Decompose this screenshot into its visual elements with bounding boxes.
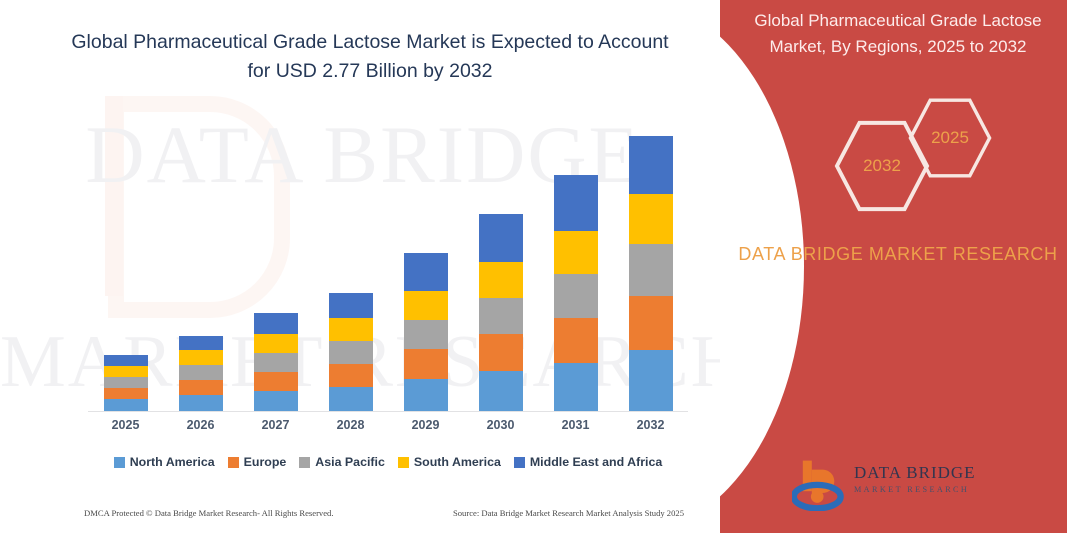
bar-segment <box>329 318 373 341</box>
bar-segment <box>554 175 598 231</box>
stacked-bar <box>104 355 148 411</box>
legend-item[interactable]: South America <box>398 455 501 469</box>
bar-segment <box>629 194 673 244</box>
infographic-canvas: DATA BRIDGE MARKET RESEARCH Global Pharm… <box>0 0 1067 533</box>
footer-source: Source: Data Bridge Market Research Mark… <box>453 508 684 518</box>
bar-segment <box>254 372 298 391</box>
x-axis-tick-label: 2030 <box>463 418 538 432</box>
legend-swatch-icon <box>398 457 409 468</box>
footer-copyright: DMCA Protected © Data Bridge Market Rese… <box>84 508 334 518</box>
chart-plot-area <box>88 120 688 412</box>
stacked-bar <box>479 214 523 411</box>
bar-segment <box>404 379 448 411</box>
bar-segment <box>254 353 298 372</box>
stacked-bar <box>329 293 373 411</box>
x-axis-tick-label: 2025 <box>88 418 163 432</box>
bar-segment <box>479 334 523 371</box>
legend-swatch-icon <box>114 457 125 468</box>
bar-segment <box>179 365 223 380</box>
x-axis-tick-label: 2026 <box>163 418 238 432</box>
bar-segment <box>554 363 598 411</box>
bar-segment <box>179 350 223 365</box>
legend-item[interactable]: Europe <box>228 455 287 469</box>
logo-line-1: DATA BRIDGE <box>854 463 976 483</box>
bar-segment <box>404 320 448 349</box>
legend-swatch-icon <box>514 457 525 468</box>
x-axis-tick-label: 2028 <box>313 418 388 432</box>
brand-logo: DATA BRIDGE MARKET RESEARCH <box>738 455 1058 513</box>
stacked-bar <box>179 336 223 411</box>
stacked-bars <box>88 120 688 411</box>
bar-segment <box>404 349 448 379</box>
bar-segment <box>479 214 523 262</box>
legend-label: Asia Pacific <box>315 455 385 469</box>
panel-title: Global Pharmaceutical Grade Lactose Mark… <box>738 8 1058 60</box>
bar-segment <box>329 341 373 364</box>
bar-segment <box>479 298 523 334</box>
bar-segment <box>554 318 598 363</box>
x-axis-tick-label: 2029 <box>388 418 463 432</box>
legend-item[interactable]: North America <box>114 455 215 469</box>
bar-segment <box>179 380 223 395</box>
legend-swatch-icon <box>228 457 239 468</box>
stacked-bar <box>629 136 673 411</box>
bar-segment <box>629 296 673 350</box>
stacked-bar <box>404 253 448 411</box>
bar-segment <box>479 371 523 411</box>
right-panel: Global Pharmaceutical Grade Lactose Mark… <box>720 0 1067 533</box>
chart-title: Global Pharmaceutical Grade Lactose Mark… <box>70 28 670 86</box>
bar-column <box>163 120 238 411</box>
x-axis-line <box>88 411 688 412</box>
bar-segment <box>404 253 448 291</box>
bar-segment <box>104 377 148 388</box>
chart-legend: North AmericaEuropeAsia PacificSouth Ame… <box>88 455 688 469</box>
panel-brand-text: DATA BRIDGE MARKET RESEARCH <box>738 240 1058 269</box>
bar-segment <box>329 364 373 387</box>
bar-column <box>313 120 388 411</box>
bar-segment <box>554 274 598 318</box>
bar-column <box>613 120 688 411</box>
bar-segment <box>479 262 523 298</box>
bar-segment <box>254 391 298 411</box>
bar-segment <box>629 136 673 194</box>
bar-column <box>388 120 463 411</box>
bar-segment <box>179 336 223 350</box>
logo-text: DATA BRIDGE MARKET RESEARCH <box>854 463 976 494</box>
bar-column <box>238 120 313 411</box>
data-bridge-logo-icon <box>792 457 846 511</box>
legend-label: South America <box>414 455 501 469</box>
legend-label: North America <box>130 455 215 469</box>
legend-swatch-icon <box>299 457 310 468</box>
bar-segment <box>329 293 373 318</box>
bar-segment <box>104 399 148 411</box>
bar-segment <box>104 388 148 399</box>
bar-segment <box>329 387 373 411</box>
legend-label: Middle East and Africa <box>530 455 662 469</box>
bar-column <box>88 120 163 411</box>
hexagon-badge-2025: 2025 <box>907 95 993 181</box>
stacked-bar <box>554 175 598 411</box>
bar-column <box>538 120 613 411</box>
hexagon-label-2025: 2025 <box>931 128 969 148</box>
bar-segment <box>104 366 148 377</box>
x-axis-tick-label: 2031 <box>538 418 613 432</box>
bar-segment <box>554 231 598 274</box>
bar-segment <box>254 313 298 334</box>
bar-segment <box>254 334 298 353</box>
legend-item[interactable]: Middle East and Africa <box>514 455 662 469</box>
hexagon-badges: 2032 2025 <box>825 95 1065 215</box>
legend-item[interactable]: Asia Pacific <box>299 455 385 469</box>
bar-segment <box>629 350 673 411</box>
x-axis-tick-label: 2032 <box>613 418 688 432</box>
x-axis-labels: 20252026202720282029203020312032 <box>88 418 688 432</box>
bar-segment <box>179 395 223 411</box>
footer: DMCA Protected © Data Bridge Market Rese… <box>84 508 684 518</box>
bar-segment <box>629 244 673 296</box>
logo-line-2: MARKET RESEARCH <box>854 485 976 494</box>
legend-label: Europe <box>244 455 287 469</box>
bar-segment <box>404 291 448 320</box>
bar-column <box>463 120 538 411</box>
x-axis-tick-label: 2027 <box>238 418 313 432</box>
hexagon-label-2032: 2032 <box>863 156 901 176</box>
bar-segment <box>104 355 148 366</box>
stacked-bar <box>254 313 298 411</box>
